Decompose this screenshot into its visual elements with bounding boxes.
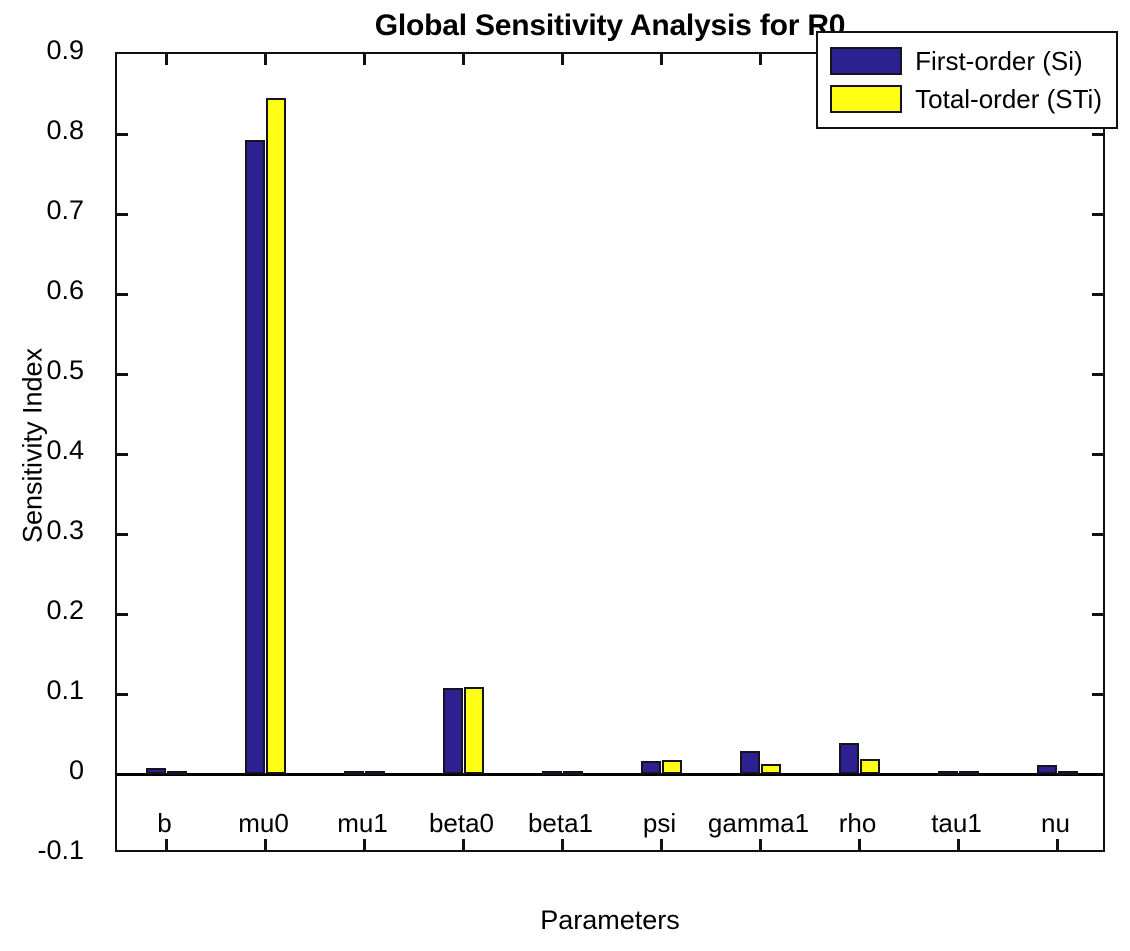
x-tick-label: nu <box>976 808 1130 839</box>
chart-legend: First-order (Si) Total-order (STi) <box>816 31 1118 129</box>
bar-rho-first-order <box>839 743 860 774</box>
legend-swatch-total-order <box>830 85 902 113</box>
bar-psi-first-order <box>641 761 662 774</box>
bar-b-first-order <box>146 768 167 774</box>
y-tick-label: 0.6 <box>0 275 84 306</box>
x-tick-mark <box>660 54 663 65</box>
x-tick-mark <box>561 839 564 850</box>
bar-tau1-total-order <box>959 771 980 775</box>
y-tick-mark <box>117 293 128 296</box>
y-tick-label: 0.4 <box>0 435 84 466</box>
bar-beta1-total-order <box>563 771 584 775</box>
bar-gamma1-first-order <box>740 751 761 774</box>
x-tick-mark <box>858 839 861 850</box>
y-tick-label: 0.1 <box>0 675 84 706</box>
bar-mu0-total-order <box>266 98 287 774</box>
bar-mu0-first-order <box>245 140 266 774</box>
x-tick-mark <box>660 839 663 850</box>
y-tick-label: 0.2 <box>0 595 84 626</box>
y-tick-mark <box>1092 533 1103 536</box>
y-tick-label: 0.7 <box>0 195 84 226</box>
x-tick-mark <box>759 839 762 850</box>
bar-psi-total-order <box>662 760 683 774</box>
y-tick-mark <box>1092 453 1103 456</box>
y-tick-mark <box>1092 293 1103 296</box>
bar-beta1-first-order <box>542 771 563 775</box>
bar-gamma1-total-order <box>761 764 782 774</box>
y-tick-mark <box>1092 613 1103 616</box>
y-tick-mark <box>117 213 128 216</box>
y-tick-mark <box>1092 213 1103 216</box>
x-tick-mark <box>759 54 762 65</box>
y-tick-mark <box>117 533 128 536</box>
legend-swatch-first-order <box>830 47 902 75</box>
y-tick-mark <box>1092 693 1103 696</box>
x-tick-mark <box>561 54 564 65</box>
y-tick-mark <box>117 693 128 696</box>
bar-nu-total-order <box>1058 771 1079 775</box>
y-tick-mark <box>117 453 128 456</box>
y-tick-label: 0.3 <box>0 515 84 546</box>
legend-label-total-order: Total-order (STi) <box>915 84 1102 114</box>
x-tick-mark <box>264 839 267 850</box>
legend-item-first-order: First-order (Si) <box>830 42 1102 80</box>
x-tick-mark <box>264 54 267 65</box>
y-tick-mark <box>117 613 128 616</box>
y-tick-label: 0.5 <box>0 355 84 386</box>
y-tick-mark <box>117 373 128 376</box>
x-tick-mark <box>165 839 168 850</box>
x-tick-mark <box>957 839 960 850</box>
x-tick-mark <box>462 839 465 850</box>
bar-beta0-total-order <box>464 687 485 774</box>
plot-area: 0.90.80.70.60.50.40.30.20.10-0.1 <box>115 52 1105 852</box>
bar-tau1-first-order <box>938 771 959 775</box>
y-tick-mark <box>1092 133 1103 136</box>
bar-b-total-order <box>167 771 188 775</box>
sensitivity-analysis-figure: Global Sensitivity Analysis for R0 Sensi… <box>0 0 1130 951</box>
bar-mu1-first-order <box>344 771 365 775</box>
y-tick-label: -0.1 <box>0 835 84 866</box>
x-axis-label: Parameters <box>115 905 1105 936</box>
x-tick-mark <box>165 54 168 65</box>
x-tick-mark <box>462 54 465 65</box>
bar-nu-first-order <box>1037 765 1058 774</box>
y-tick-label: 0.8 <box>0 115 84 146</box>
y-tick-mark <box>1092 373 1103 376</box>
y-tick-label: 0 <box>0 755 84 786</box>
bar-mu1-total-order <box>365 771 386 775</box>
y-tick-mark <box>117 133 128 136</box>
legend-item-total-order: Total-order (STi) <box>830 80 1102 118</box>
x-tick-mark <box>363 839 366 850</box>
y-tick-label: 0.9 <box>0 35 84 66</box>
x-tick-mark <box>363 54 366 65</box>
x-tick-mark <box>1056 839 1059 850</box>
bar-beta0-first-order <box>443 688 464 774</box>
legend-label-first-order: First-order (Si) <box>915 46 1083 76</box>
bar-rho-total-order <box>860 759 881 774</box>
